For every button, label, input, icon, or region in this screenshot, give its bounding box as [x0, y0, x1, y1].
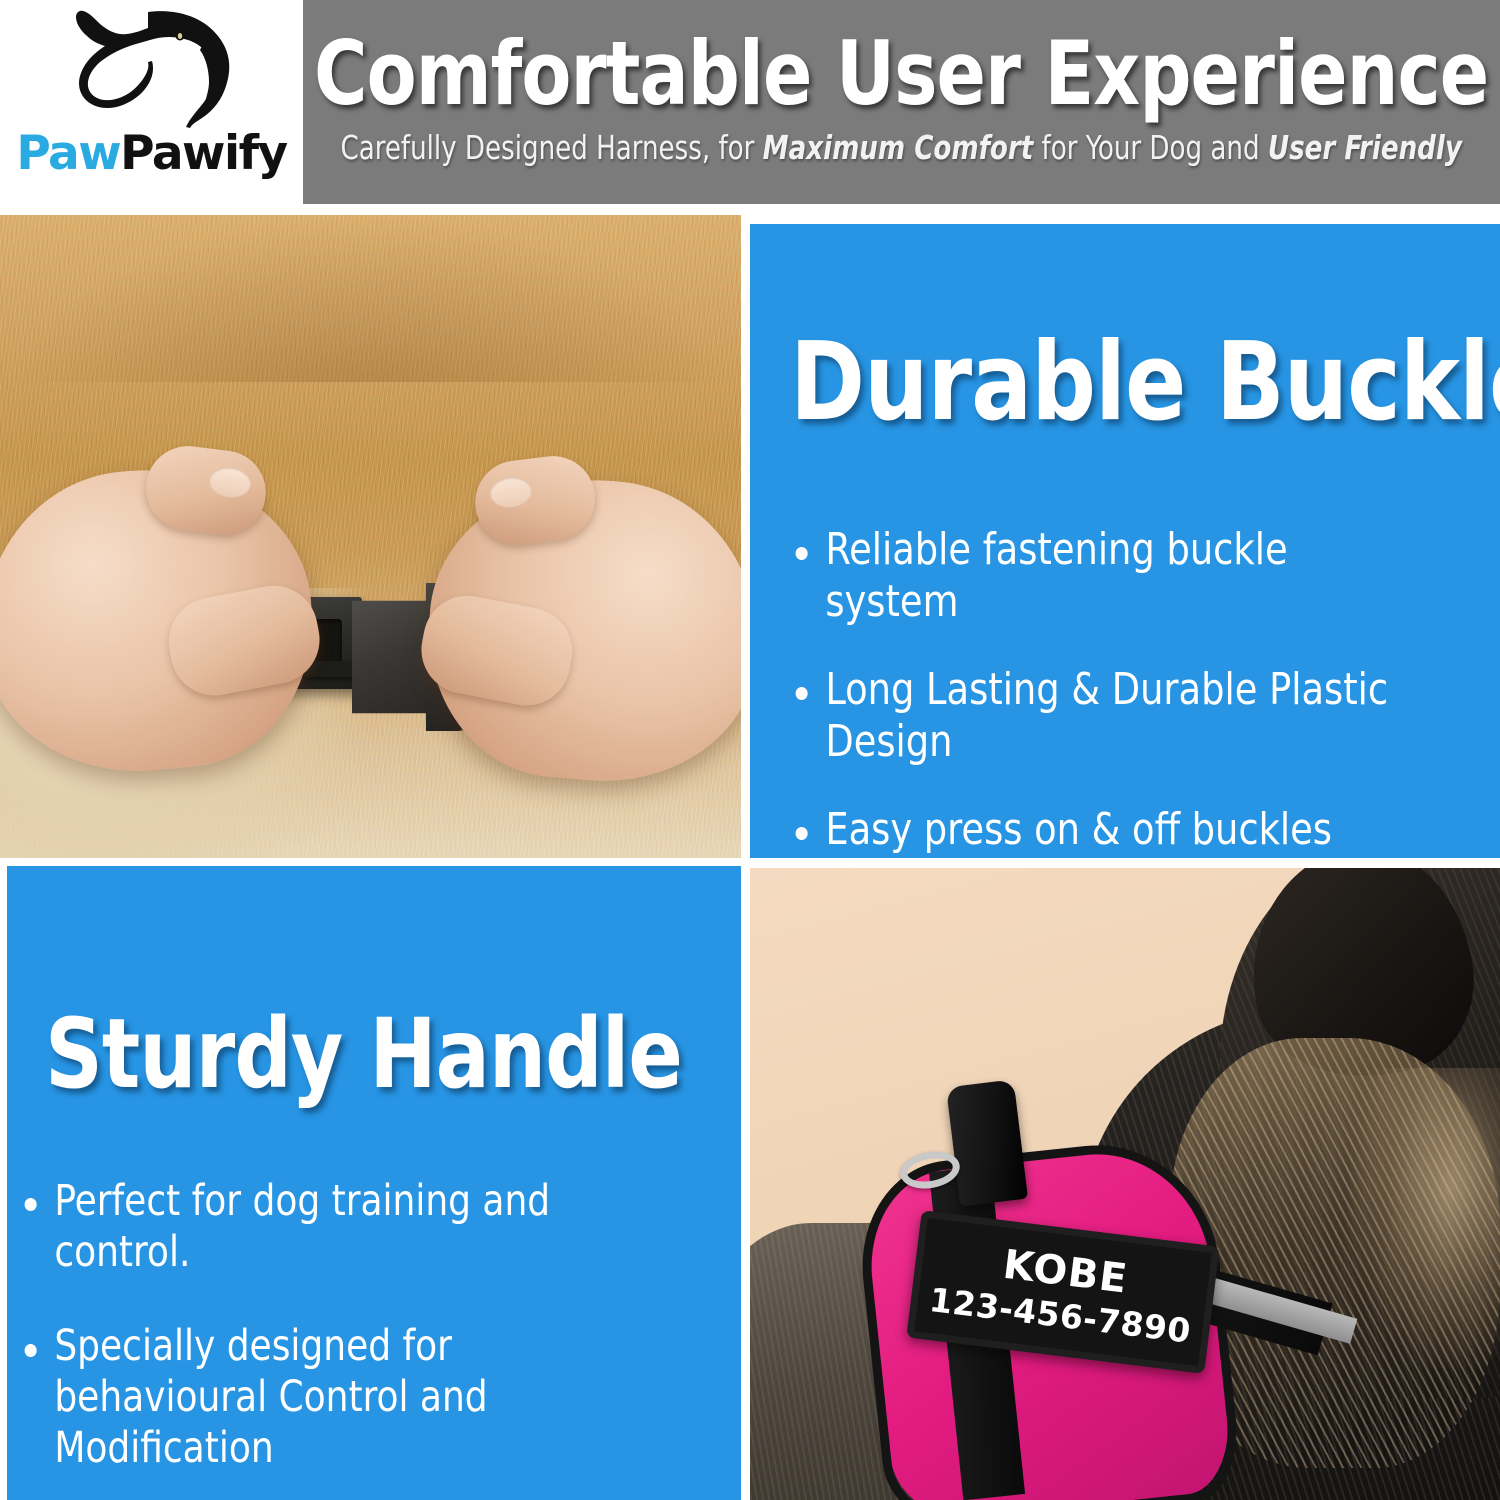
page-header: PawPawify Comfortable User Experience Ca… [0, 0, 1500, 208]
list-item: Perfect for dog training and control. [19, 1176, 670, 1277]
list-item: Easy press on & off buckles [790, 804, 1413, 856]
list-item: Specially designed for behavioural Contr… [19, 1321, 670, 1473]
durable-buckle-bullet-list: Reliable fastening buckle system Long La… [790, 524, 1460, 858]
hands-fastening-buckle-image [0, 215, 741, 858]
page-title: Comfortable User Experience [314, 30, 1488, 118]
dog-head-icon [52, 6, 252, 136]
right-thumb-nail [488, 475, 533, 510]
subtitle-bold-comfort: Maximum Comfort [763, 128, 1034, 167]
dog-harness-photo: KOBE 123-456-7890 [750, 868, 1500, 1500]
durable-buckle-title: Durable Buckle [790, 329, 1500, 437]
subtitle-prefix: Carefully Designed Harness, for [341, 128, 763, 167]
left-thumb-nail [207, 465, 252, 500]
sturdy-handle-bullet-list: Perfect for dog training and control. Sp… [19, 1176, 719, 1500]
list-item: Long Lasting & Durable Plastic Design [790, 664, 1413, 768]
brand-logo: PawPawify [0, 0, 303, 208]
subtitle-middle: for Your Dog and [1034, 128, 1269, 167]
dog-wearing-harness-image: KOBE 123-456-7890 [750, 868, 1500, 1500]
page-subtitle: Carefully Designed Harness, for Maximum … [341, 130, 1462, 166]
dog-cheek-highlight [1350, 1068, 1500, 1368]
harness-top-handle [946, 1079, 1028, 1206]
brand-word-pawify: Pawify [120, 126, 287, 181]
fur-shadow [0, 215, 741, 382]
list-item: Reliable fastening buckle system [790, 524, 1413, 628]
header-banner: Comfortable User Experience Carefully De… [303, 0, 1500, 204]
buckle-photo [0, 215, 741, 858]
sturdy-handle-title: Sturdy Handle [45, 1006, 682, 1102]
brand-word-paw: Paw [16, 126, 120, 181]
brand-wordmark: PawPawify [16, 130, 286, 177]
subtitle-bold-friendly: User Friendly [1268, 128, 1462, 167]
sturdy-handle-panel: Sturdy Handle Perfect for dog training a… [7, 866, 741, 1500]
durable-buckle-panel: Durable Buckle Reliable fastening buckle… [750, 224, 1500, 858]
